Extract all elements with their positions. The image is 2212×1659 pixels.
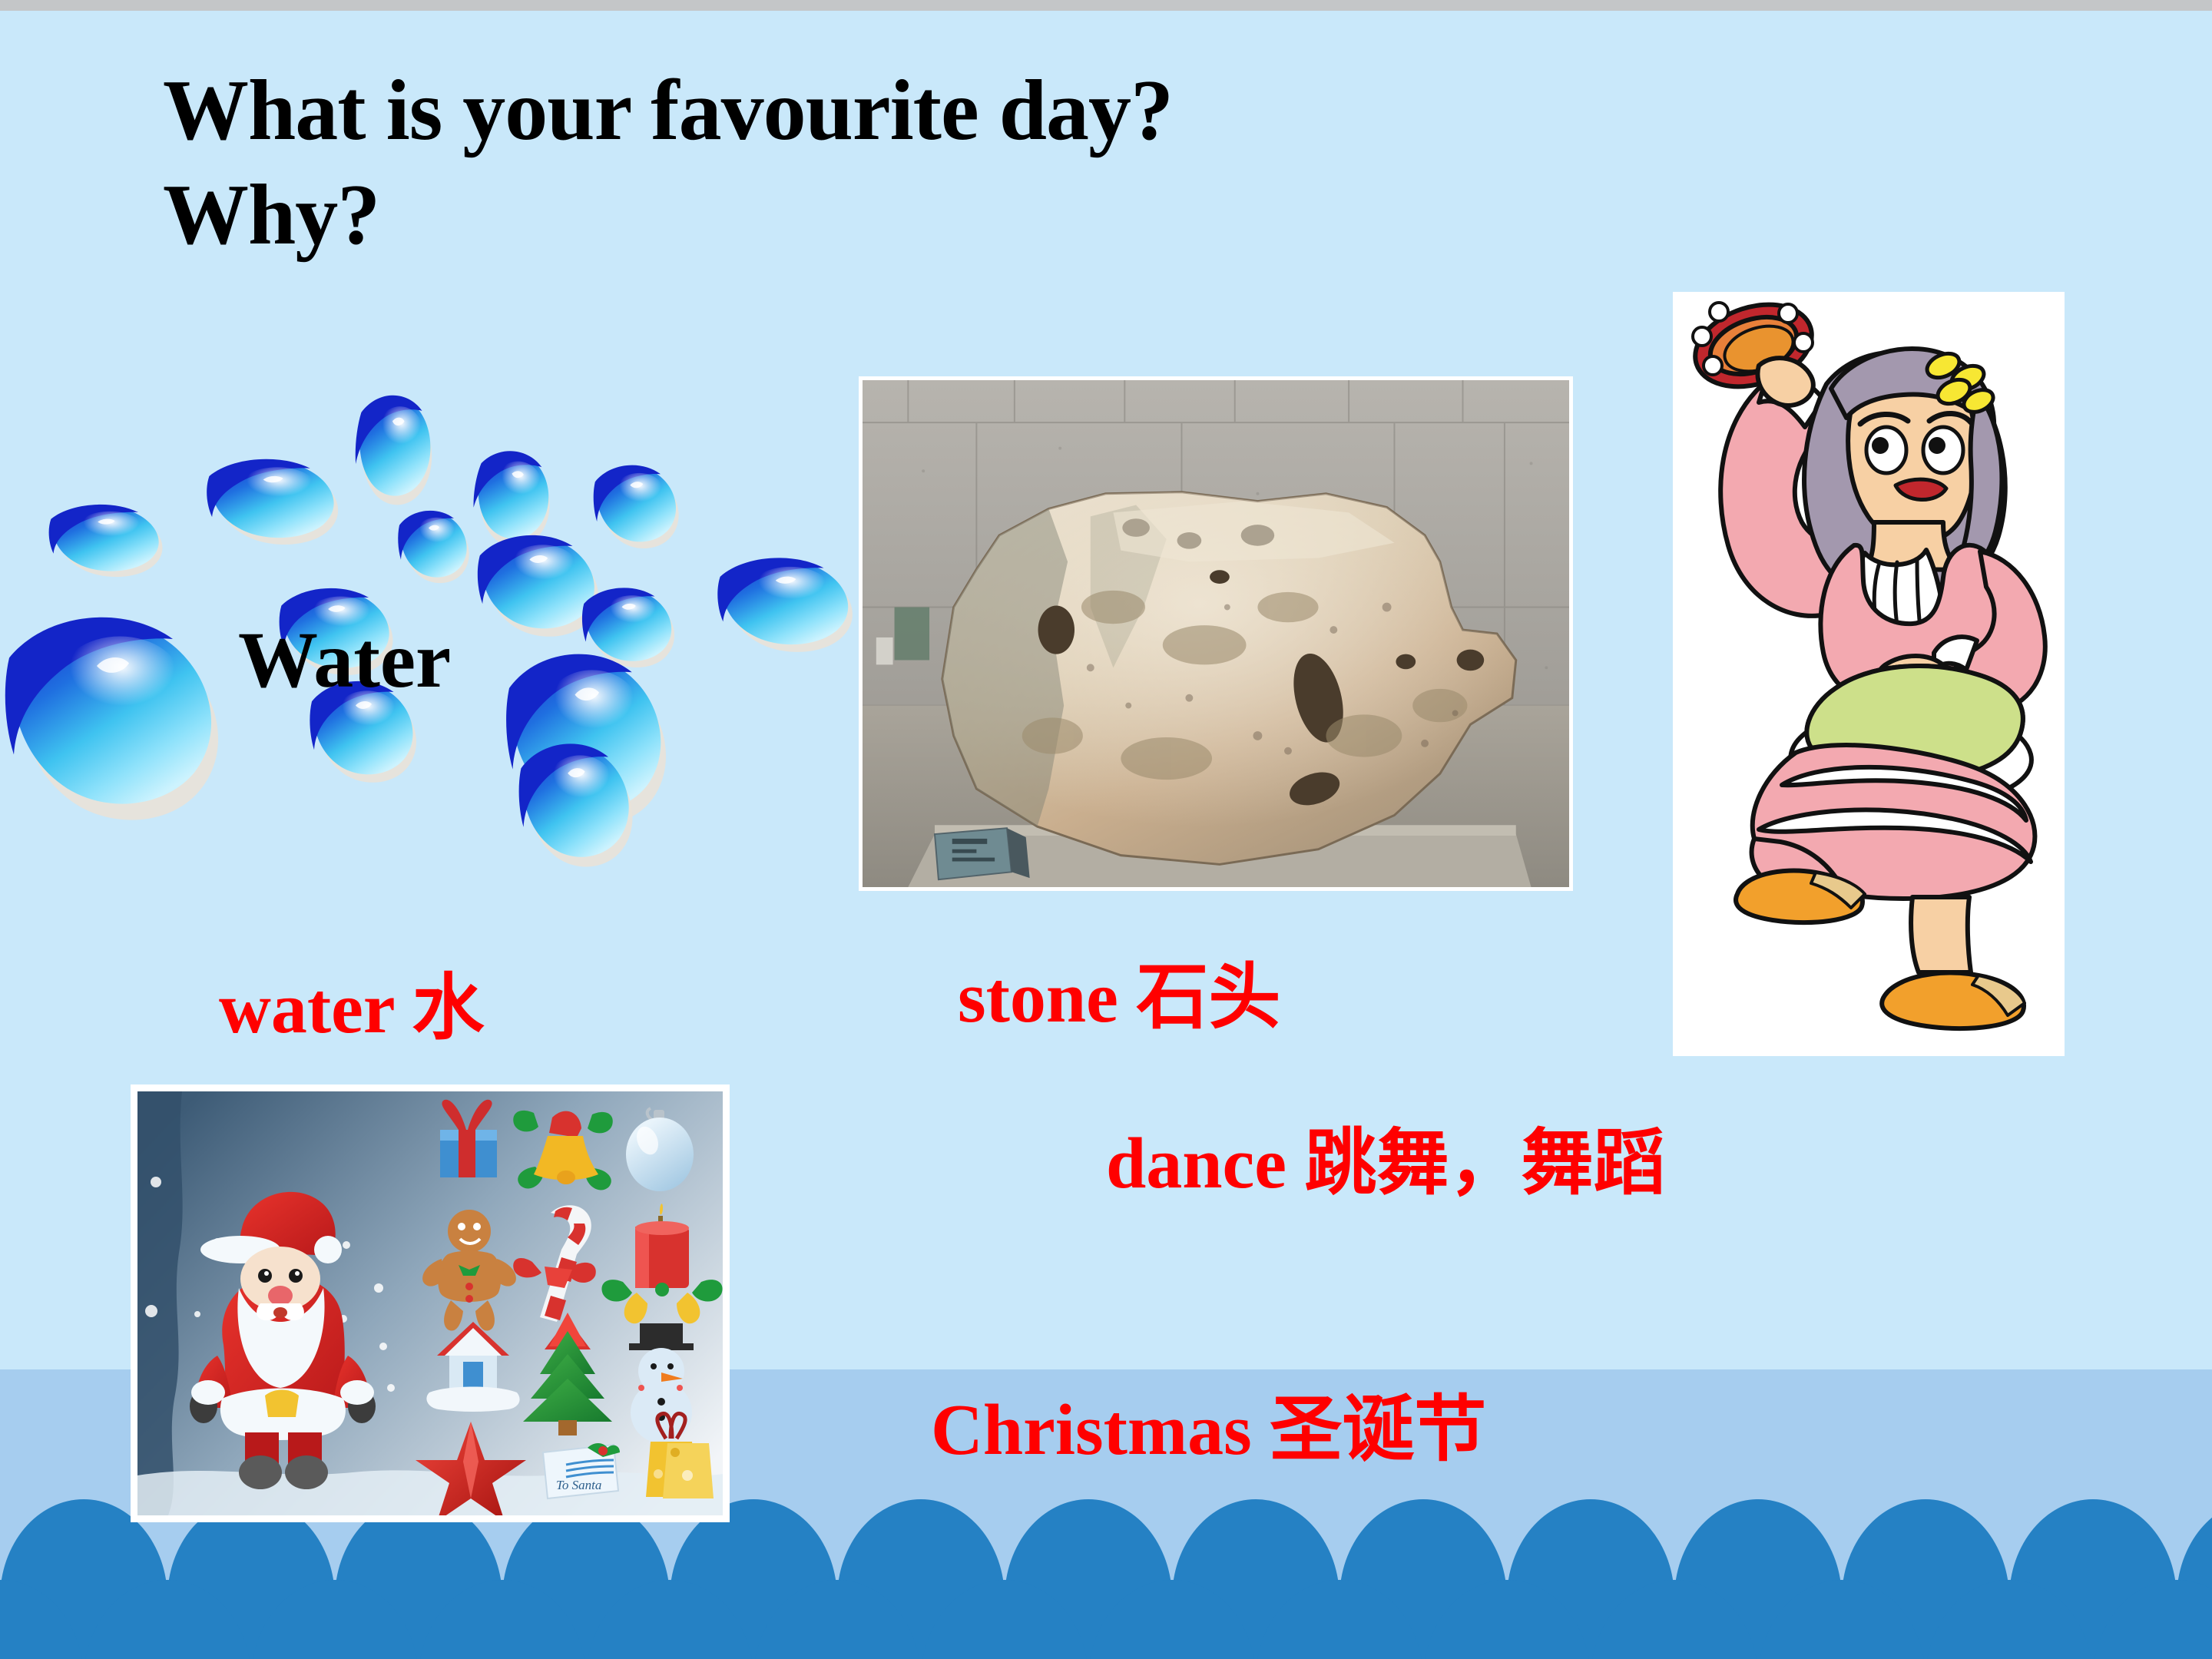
water-drop-icon <box>396 507 473 584</box>
christmas-icons-picture: To Santa <box>131 1084 730 1522</box>
title-line-1: What is your favourite day? <box>163 68 1853 154</box>
wave-scallop <box>753 1580 921 1659</box>
wave-scallop <box>2093 1580 2212 1659</box>
water-drop-icon <box>591 461 684 549</box>
water-drop-icon <box>516 737 639 868</box>
santa-letter-icon: To Santa <box>543 1443 620 1498</box>
top-gray-bar <box>0 0 2212 11</box>
dancing-girl-clipart <box>1673 292 2065 1056</box>
wave-scallop <box>1758 1580 1926 1659</box>
water-drop-icon <box>204 455 346 545</box>
stone-photo <box>859 376 1573 891</box>
wave-scallop <box>921 1580 1088 1659</box>
slide-title: What is your favourite day? Why? <box>163 68 1853 258</box>
title-line-2: Why? <box>163 172 1853 258</box>
wave-scallop <box>419 1580 586 1659</box>
wave-scallop <box>0 1580 84 1659</box>
wave-scallop <box>1423 1580 1591 1659</box>
caption-dance: dance 跳舞，舞蹈 <box>1106 1104 1666 1209</box>
stone-photo-graphic <box>863 380 1569 887</box>
water-word-label: Water <box>238 614 451 706</box>
wave-scallop <box>84 1580 251 1659</box>
slide-canvas: What is your favourite day? Why? Water <box>0 0 2212 1659</box>
wave-scallop <box>251 1580 419 1659</box>
water-drop-icon <box>714 553 860 653</box>
water-drop-icon <box>0 607 230 822</box>
water-drop-icon <box>46 501 169 578</box>
dancing-girl-graphic <box>1673 292 2065 1056</box>
water-drop-icon <box>346 385 445 511</box>
wave-scallop <box>1088 1580 1256 1659</box>
wave-scallop <box>1256 1580 1423 1659</box>
wave-scallop <box>586 1580 753 1659</box>
caption-stone: stone 石头 <box>958 939 1280 1043</box>
wave-scallop-row-bottom <box>0 1580 2212 1659</box>
caption-christmas: Christmas 圣诞节 <box>931 1371 1486 1475</box>
exhibit-plaque <box>935 828 1030 879</box>
wave-scallop <box>1591 1580 1758 1659</box>
wave-scallop <box>1926 1580 2093 1659</box>
caption-water: water 水 <box>219 949 484 1054</box>
christmas-icons-graphic: To Santa <box>137 1091 723 1515</box>
right-shoe-icon <box>1882 972 2025 1028</box>
santa-letter-text: To Santa <box>556 1478 601 1492</box>
